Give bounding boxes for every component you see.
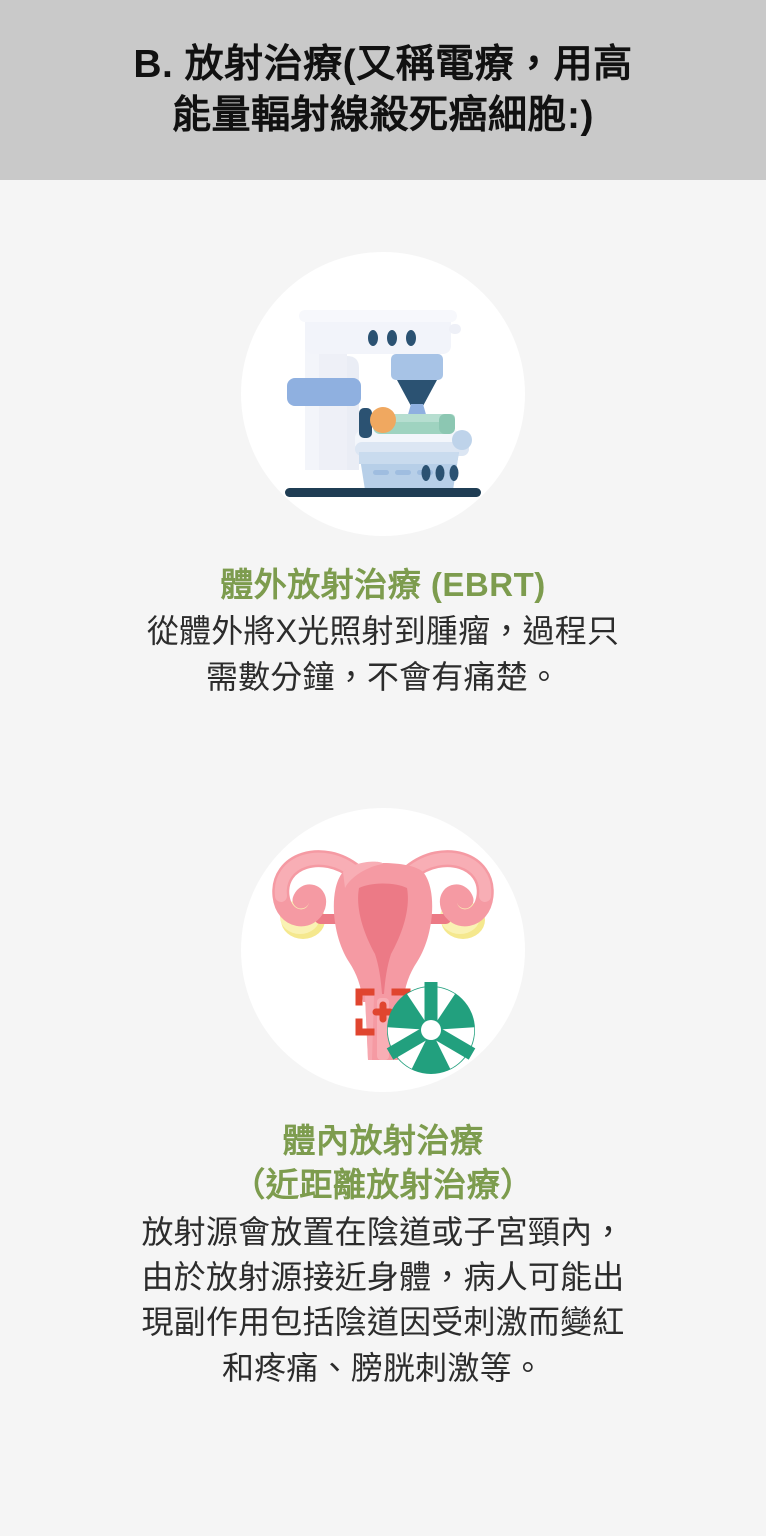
ebrt-caption: 體外放射治療 (EBRT) 從體外將X光照射到腫瘤，過程只 需數分鐘，不會有痛楚… xyxy=(63,563,703,700)
brachytherapy-title: 體內放射治療 （近距離放射治療） xyxy=(63,1119,703,1207)
page-title: B. 放射治療(又稱電療，用高 能量輻射線殺死癌細胞:) xyxy=(133,39,632,142)
ebrt-body-line-2: 需數分鐘，不會有痛楚。 xyxy=(71,655,695,700)
brachytherapy-body: 放射源會放置在陰道或子宮頸內， 由於放射源接近身體，病人可能出 現副作用包括陰道… xyxy=(63,1210,703,1392)
brachytherapy-body-line-2: 由於放射源接近身體，病人可能出 xyxy=(71,1255,695,1300)
page-title-line-2: 能量輻射線殺死癌細胞:) xyxy=(133,90,632,141)
ebrt-illustration-circle xyxy=(241,252,525,536)
brachytherapy-body-line-3: 現副作用包括陰道因受刺激而變紅 xyxy=(71,1300,695,1345)
brachytherapy-caption: 體內放射治療 （近距離放射治療） 放射源會放置在陰道或子宮頸內， 由於放射源接近… xyxy=(63,1119,703,1391)
radiation-therapy-machine-icon xyxy=(263,274,503,514)
section-ebrt: 體外放射治療 (EBRT) 從體外將X光照射到腫瘤，過程只 需數分鐘，不會有痛楚… xyxy=(0,180,766,700)
brachytherapy-illustration-circle xyxy=(241,808,525,1092)
header-band: B. 放射治療(又稱電療，用高 能量輻射線殺死癌細胞:) xyxy=(0,0,766,180)
uterus-brachytherapy-icon xyxy=(259,826,507,1074)
ebrt-body-line-1: 從體外將X光照射到腫瘤，過程只 xyxy=(71,609,695,654)
brachytherapy-body-line-4: 和疼痛、膀胱刺激等。 xyxy=(71,1346,695,1391)
brachytherapy-title-line-2: （近距離放射治療） xyxy=(63,1163,703,1207)
ebrt-body: 從體外將X光照射到腫瘤，過程只 需數分鐘，不會有痛楚。 xyxy=(63,609,703,700)
brachytherapy-body-line-1: 放射源會放置在陰道或子宮頸內， xyxy=(71,1210,695,1255)
ebrt-title: 體外放射治療 (EBRT) xyxy=(63,563,703,607)
brachytherapy-title-line-1: 體內放射治療 xyxy=(63,1119,703,1163)
section-brachytherapy: 體內放射治療 （近距離放射治療） 放射源會放置在陰道或子宮頸內， 由於放射源接近… xyxy=(0,700,766,1391)
infographic-page: B. 放射治療(又稱電療，用高 能量輻射線殺死癌細胞:) xyxy=(0,0,766,1536)
page-title-line-1: B. 放射治療(又稱電療，用高 xyxy=(133,39,632,90)
